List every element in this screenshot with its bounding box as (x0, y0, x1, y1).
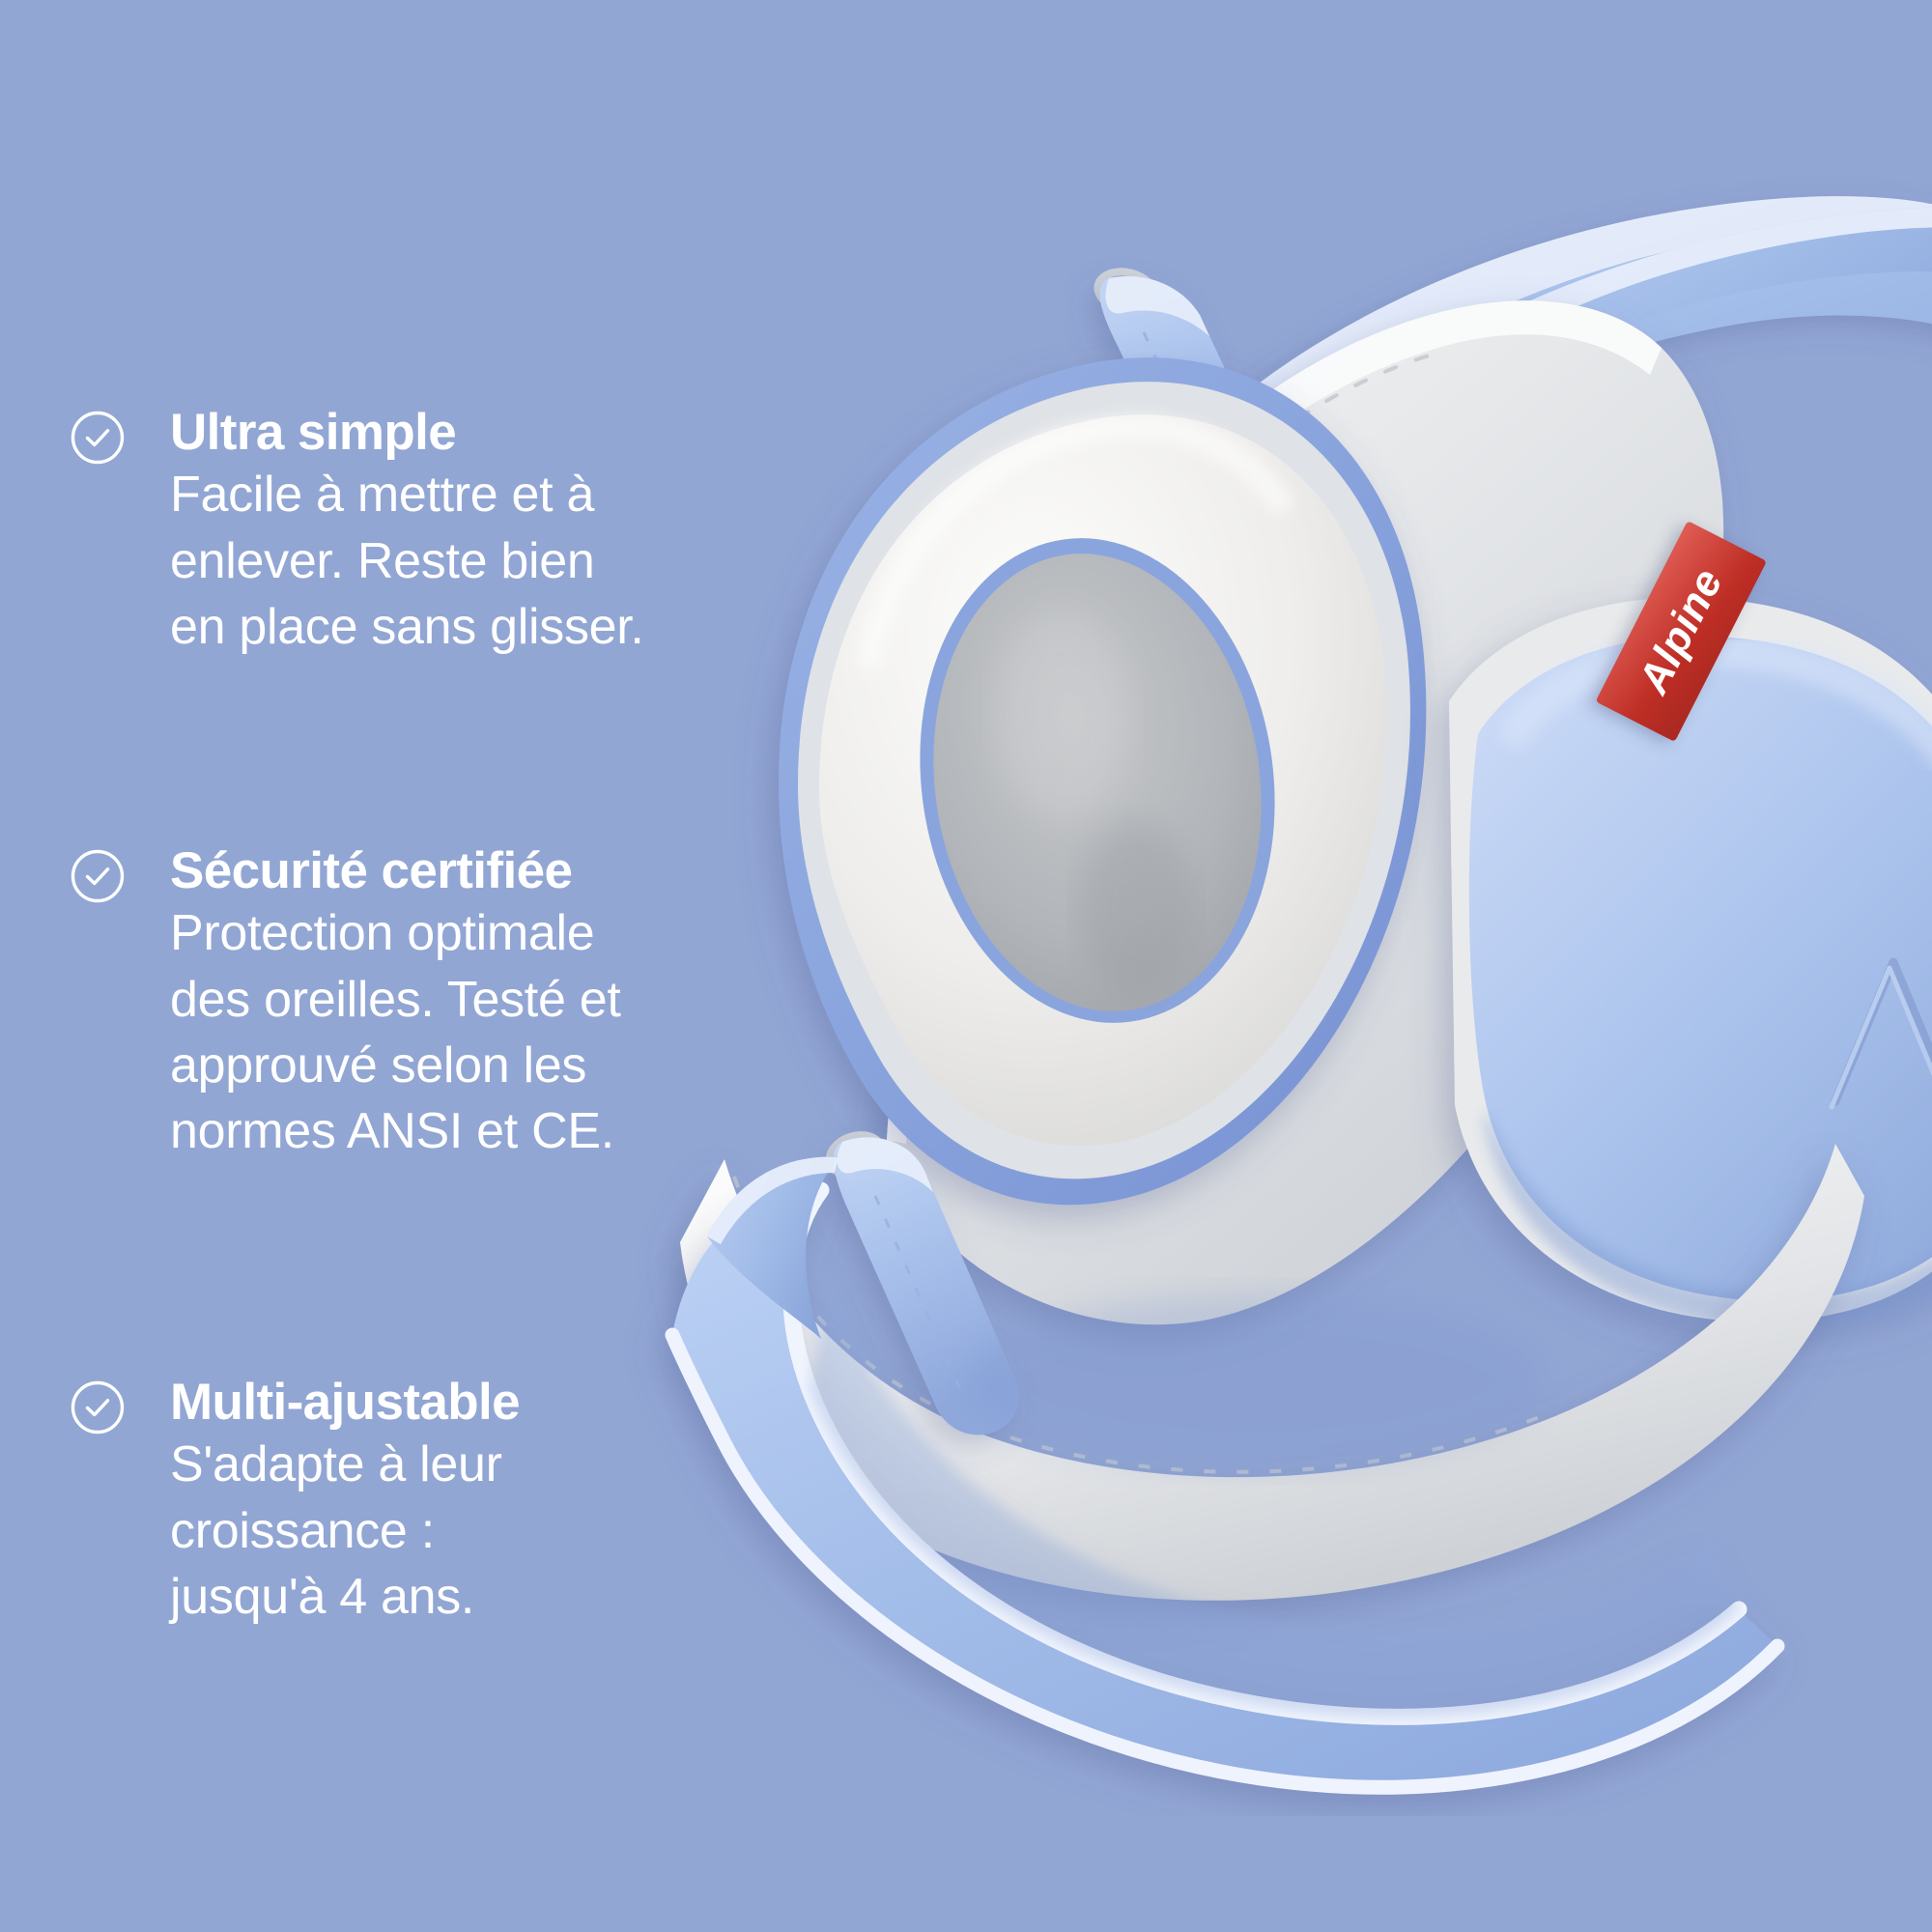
feature-item-ultra-simple: Ultra simple Facile à mettre et à enleve… (70, 404, 842, 660)
feature-text: Multi-ajustable S'adapte à leur croissan… (170, 1374, 842, 1630)
check-circle-icon (70, 410, 126, 466)
check-circle-icon (70, 848, 126, 904)
feature-body: Facile à mettre et à enlever. Reste bien… (170, 462, 842, 659)
feature-item-multi-ajustable: Multi-ajustable S'adapte à leur croissan… (70, 1374, 842, 1630)
feature-title: Multi-ajustable (170, 1374, 842, 1432)
check-circle-icon (70, 1379, 126, 1435)
feature-title: Ultra simple (170, 404, 842, 462)
feature-item-securite-certifiee: Sécurité certifiée Protection optimale d… (70, 842, 842, 1164)
product-feature-poster: Alpine Ultra simple Facile à mettre et à… (0, 0, 1932, 1932)
feature-body: S'adapte à leur croissance : jusqu'à 4 a… (170, 1432, 842, 1629)
feature-text: Ultra simple Facile à mettre et à enleve… (170, 404, 842, 660)
feature-list: Ultra simple Facile à mettre et à enleve… (0, 0, 850, 1932)
feature-body: Protection optimale des oreilles. Testé … (170, 900, 842, 1163)
feature-text: Sécurité certifiée Protection optimale d… (170, 842, 842, 1164)
feature-title: Sécurité certifiée (170, 842, 842, 900)
